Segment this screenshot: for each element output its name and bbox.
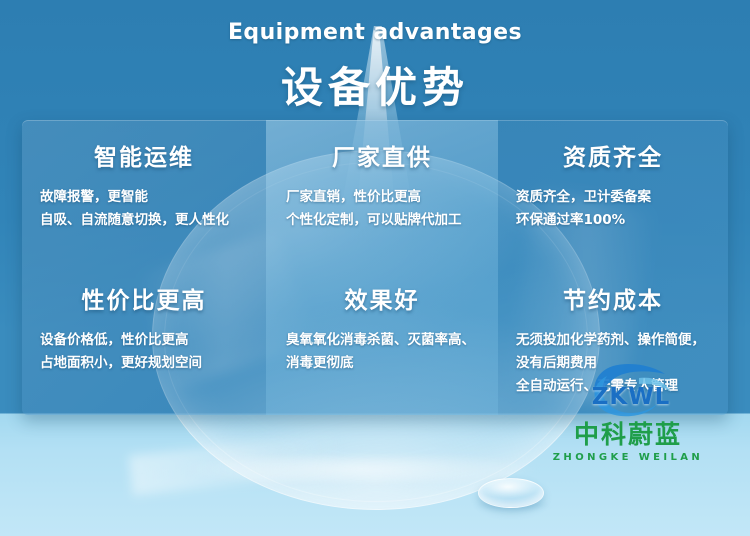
advantage-heading: 厂家直供: [282, 120, 482, 172]
title-english: Equipment advantages: [0, 20, 750, 45]
advantage-line: 资质齐全，卫计委备案: [516, 186, 712, 209]
advantage-line: 设备价格低，性价比更高: [40, 329, 250, 352]
small-droplet-icon: [478, 478, 544, 508]
title-chinese: 设备优势: [0, 54, 750, 115]
advantage-body: 故障报警，更智能 自吸、自流随意切换，更人性化: [38, 186, 250, 232]
advantage-cell-better-value: 性价比更高 设备价格低，性价比更高 占地面积小，更好规划空间: [22, 265, 266, 415]
advantage-line: 个性化定制，可以贴牌代加工: [286, 209, 482, 232]
advantage-cell-factory-direct: 厂家直供 厂家直销，性价比更高 个性化定制，可以贴牌代加工: [266, 120, 498, 265]
advantage-cell-good-effect: 效果好 臭氧氧化消毒杀菌、灭菌率高、 消毒更彻底: [266, 265, 498, 415]
advantage-line: 没有后期费用: [516, 352, 712, 375]
advantage-cell-full-qualification: 资质齐全 资质齐全，卫计委备案 环保通过率100%: [498, 120, 728, 265]
advantage-heading: 资质齐全: [514, 120, 712, 172]
advantages-grid: 智能运维 故障报警，更智能 自吸、自流随意切换，更人性化 厂家直供 厂家直销，性…: [22, 120, 728, 415]
advantage-line: 厂家直销，性价比更高: [286, 186, 482, 209]
advantage-heading: 节约成本: [514, 265, 712, 315]
advantage-line: 臭氧氧化消毒杀菌、灭菌率高、: [286, 329, 482, 352]
brand-name-chinese: 中科蔚蓝: [548, 415, 708, 451]
advantage-line: 全自动运行、无需专人管理: [516, 375, 712, 398]
poster-header: Equipment advantages 设备优势: [0, 0, 750, 115]
advantage-line: 无须投加化学药剂、操作简便，: [516, 329, 712, 352]
advantage-cell-cost-saving: 节约成本 无须投加化学药剂、操作简便， 没有后期费用 全自动运行、无需专人管理: [498, 265, 728, 415]
advantage-body: 设备价格低，性价比更高 占地面积小，更好规划空间: [38, 329, 250, 375]
advantage-line: 自吸、自流随意切换，更人性化: [40, 209, 250, 232]
advantage-line: 占地面积小，更好规划空间: [40, 352, 250, 375]
advantage-line: 故障报警，更智能: [40, 186, 250, 209]
advantage-line: 环保通过率100%: [516, 209, 712, 232]
advantage-heading: 智能运维: [38, 120, 250, 172]
advantage-body: 无须投加化学药剂、操作简便， 没有后期费用 全自动运行、无需专人管理: [514, 329, 712, 398]
poster-stage: Equipment advantages 设备优势 智能运维 故障报警，更智能 …: [0, 0, 750, 536]
brand-lockup: 中科蔚蓝 ZHONGKE WEILAN: [548, 415, 708, 463]
advantages-card: 智能运维 故障报警，更智能 自吸、自流随意切换，更人性化 厂家直供 厂家直销，性…: [22, 120, 728, 415]
advantage-body: 资质齐全，卫计委备案 环保通过率100%: [514, 186, 712, 232]
brand-name-english: ZHONGKE WEILAN: [548, 452, 708, 463]
advantage-heading: 效果好: [282, 265, 482, 315]
advantage-body: 臭氧氧化消毒杀菌、灭菌率高、 消毒更彻底: [282, 329, 482, 375]
advantage-cell-smart-ops: 智能运维 故障报警，更智能 自吸、自流随意切换，更人性化: [22, 120, 266, 265]
advantage-heading: 性价比更高: [38, 265, 250, 315]
advantage-line: 消毒更彻底: [286, 352, 482, 375]
advantage-body: 厂家直销，性价比更高 个性化定制，可以贴牌代加工: [282, 186, 482, 232]
